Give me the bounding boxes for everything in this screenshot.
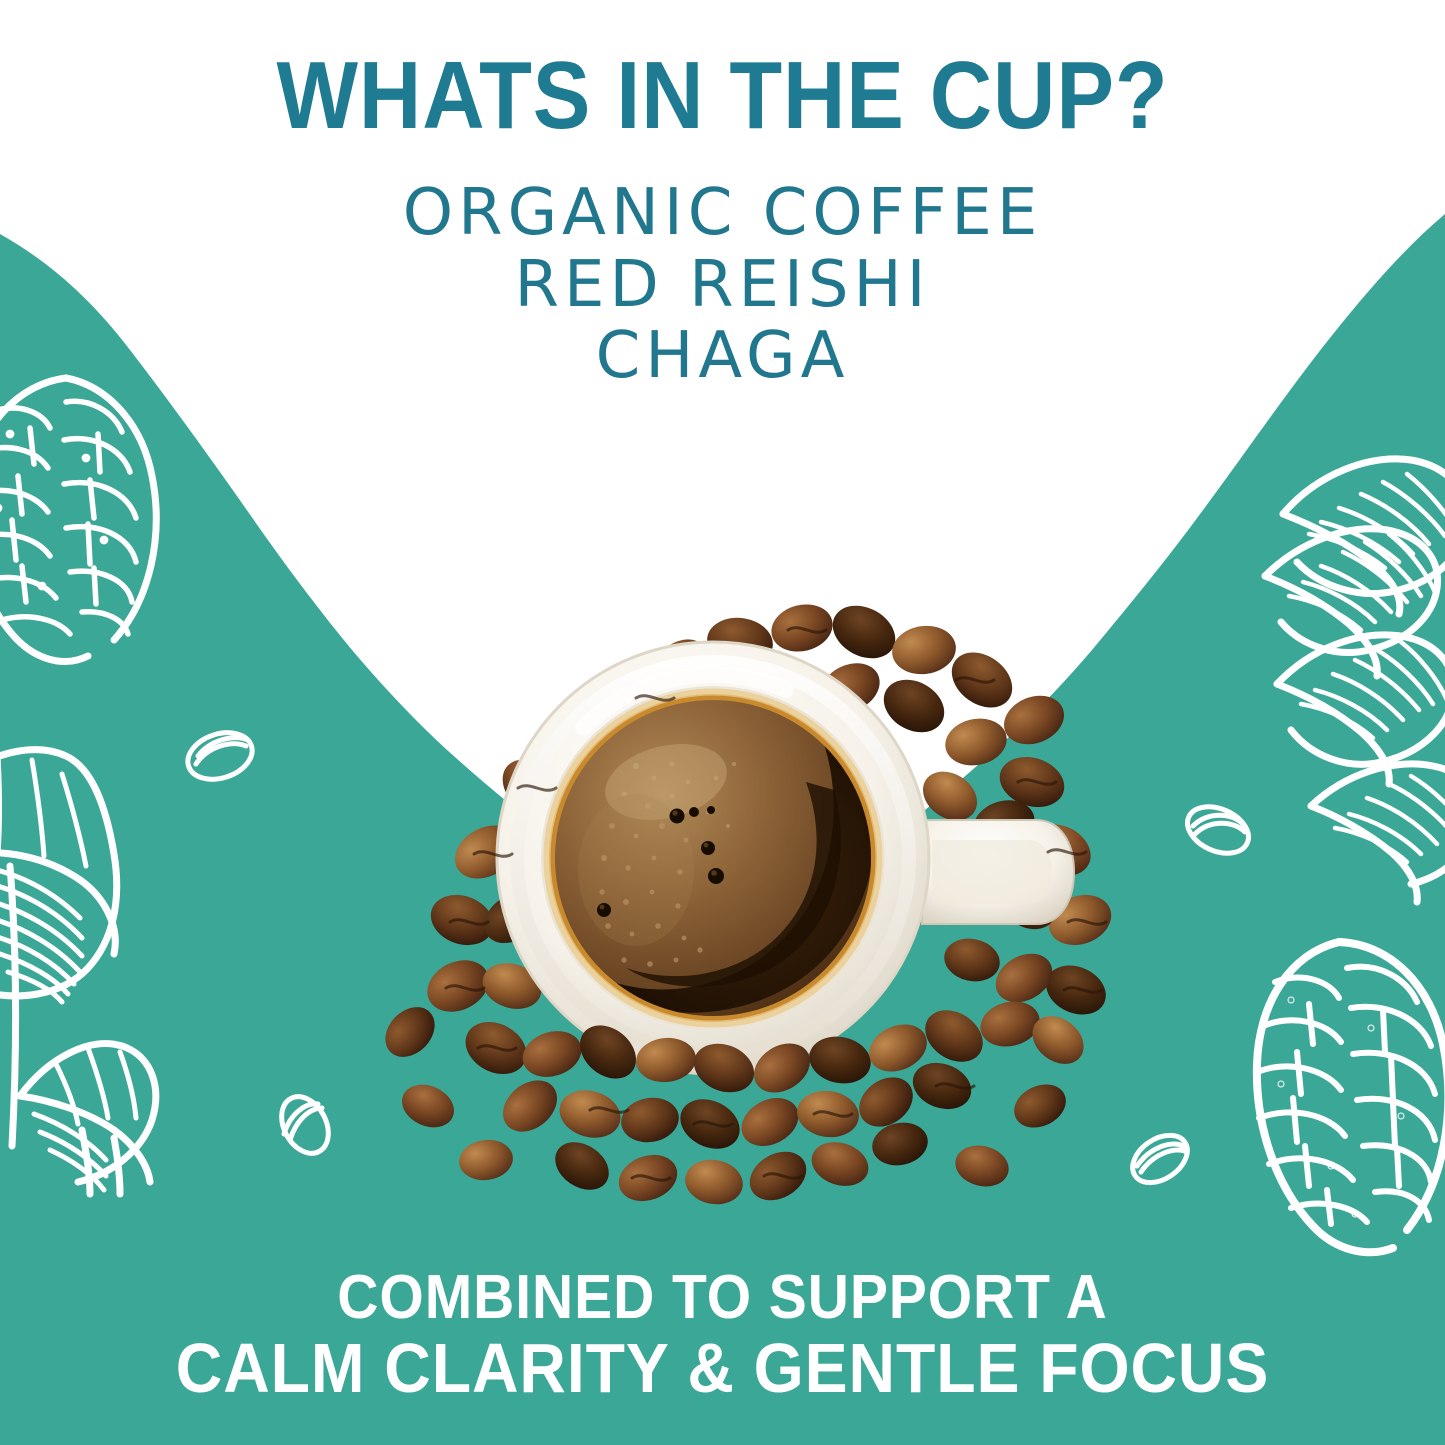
tagline: COMBINED TO SUPPORT A CALM CLARITY & GEN… — [0, 1265, 1445, 1405]
tagline-line-2: CALM CLARITY & GENTLE FOCUS — [58, 1331, 1387, 1405]
tagline-line-1: COMBINED TO SUPPORT A — [58, 1265, 1387, 1331]
product-infographic-canvas: WHATS IN THE CUP? ORGANIC COFFEE RED REI… — [0, 0, 1445, 1445]
text-layer: WHATS IN THE CUP? ORGANIC COFFEE RED REI… — [0, 0, 1445, 1445]
ingredient-item: RED REISHI — [0, 250, 1445, 322]
ingredient-item: CHAGA — [0, 321, 1445, 393]
page-title: WHATS IN THE CUP? — [72, 48, 1373, 144]
ingredient-list: ORGANIC COFFEE RED REISHI CHAGA — [0, 178, 1445, 393]
ingredient-item: ORGANIC COFFEE — [0, 178, 1445, 250]
